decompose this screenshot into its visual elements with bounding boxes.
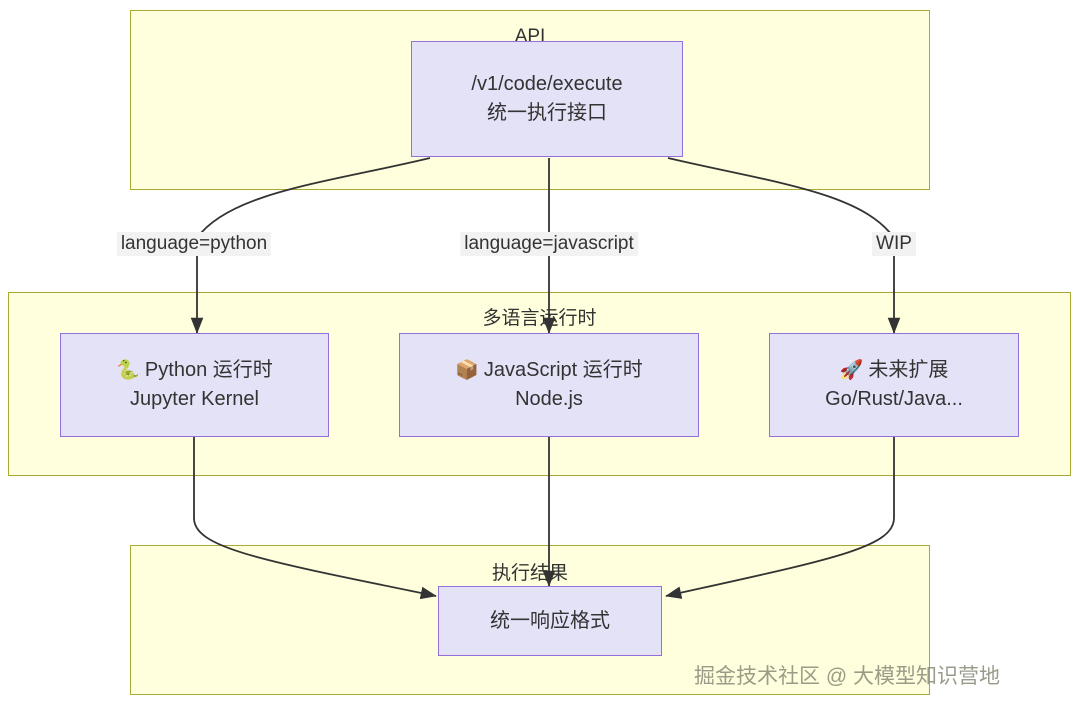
edge-label-wip: WIP	[872, 232, 916, 256]
node-python-runtime[interactable]: 🐍Python 运行时 Jupyter Kernel	[60, 333, 329, 437]
node-api-endpoint-line-2: 统一执行接口	[487, 99, 607, 128]
rocket-icon: 🚀	[840, 360, 864, 381]
node-javascript-runtime-line-1: 📦JavaScript 运行时	[455, 356, 643, 385]
subgraph-result-title: 执行结果	[131, 558, 929, 585]
watermark: 掘金技术社区 @ 大模型知识营地	[694, 660, 1000, 690]
node-unified-response[interactable]: 统一响应格式	[438, 586, 662, 656]
snake-icon: 🐍	[116, 360, 140, 381]
node-future-runtime-line-2: Go/Rust/Java...	[825, 385, 963, 414]
edge-label-language-javascript: language=javascript	[460, 232, 638, 256]
node-unified-response-line-1: 统一响应格式	[490, 607, 610, 636]
node-future-runtime-line-1: 🚀未来扩展	[840, 356, 949, 385]
node-javascript-runtime-text-1: JavaScript 运行时	[484, 359, 643, 381]
node-python-runtime-text-1: Python 运行时	[145, 359, 273, 381]
diagram-canvas: API 多语言运行时 执行结果 /v1/code/execute 统一执行接口	[0, 0, 1080, 706]
node-python-runtime-line-2: Jupyter Kernel	[130, 385, 259, 414]
edge-label-language-python: language=python	[117, 232, 271, 256]
node-python-runtime-line-1: 🐍Python 运行时	[116, 356, 273, 385]
node-api-endpoint-line-1: /v1/code/execute	[471, 70, 622, 99]
node-javascript-runtime-line-2: Node.js	[515, 385, 583, 414]
node-future-runtime[interactable]: 🚀未来扩展 Go/Rust/Java...	[769, 333, 1019, 437]
subgraph-runtime-title: 多语言运行时	[9, 303, 1070, 330]
node-javascript-runtime[interactable]: 📦JavaScript 运行时 Node.js	[399, 333, 699, 437]
package-icon: 📦	[455, 360, 479, 381]
node-api-endpoint[interactable]: /v1/code/execute 统一执行接口	[411, 41, 683, 157]
node-future-runtime-text-1: 未来扩展	[868, 359, 948, 381]
